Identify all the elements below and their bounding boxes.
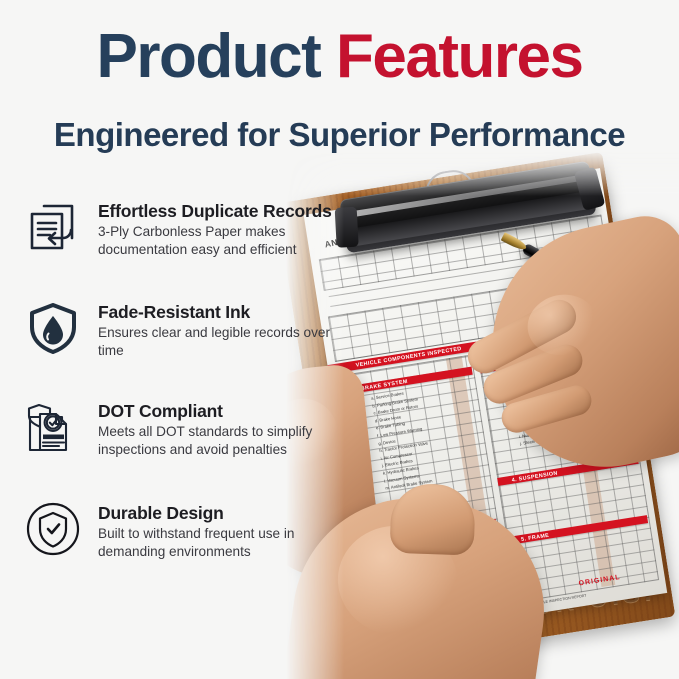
- feature-description: Built to withstand frequent use in deman…: [98, 525, 350, 560]
- feature-title: Fade-Resistant Ink: [98, 302, 350, 322]
- feature-item-duplicate-records: Effortless Duplicate Records 3-Ply Carbo…: [22, 196, 352, 258]
- knuckle-highlight: [522, 288, 603, 361]
- feature-text: Durable Design Built to withstand freque…: [98, 498, 350, 560]
- page-title-part-2: Features: [336, 22, 582, 91]
- feature-item-durable-design: Durable Design Built to withstand freque…: [22, 498, 352, 560]
- page-subtitle: Engineered for Superior Performance: [0, 116, 679, 154]
- page-title: Product Features: [0, 26, 679, 88]
- feature-text: DOT Compliant Meets all DOT standards to…: [98, 396, 350, 458]
- feature-description: Ensures clear and legible records over t…: [98, 324, 350, 359]
- duplicate-documents-icon: [22, 196, 84, 258]
- feature-text: Effortless Duplicate Records 3-Ply Carbo…: [98, 196, 350, 258]
- circle-shield-check-icon: [22, 498, 84, 560]
- feature-item-dot-compliant: DOT Compliant Meets all DOT standards to…: [22, 396, 352, 458]
- shield-ink-drop-icon: [22, 297, 84, 359]
- feature-item-fade-resistant-ink: Fade-Resistant Ink Ensures clear and leg…: [22, 297, 352, 359]
- feature-text: Fade-Resistant Ink Ensures clear and leg…: [98, 297, 350, 359]
- feature-description: 3-Ply Carbonless Paper makes documentati…: [98, 223, 350, 258]
- feature-title: DOT Compliant: [98, 401, 350, 421]
- page-title-part-1: Product: [97, 22, 321, 91]
- feature-description: Meets all DOT standards to simplify insp…: [98, 423, 350, 458]
- feature-title: Durable Design: [98, 503, 350, 523]
- product-features-infographic: BUCK U.S. ANNUAL VEHICLE INSPECTION REPO…: [0, 0, 679, 679]
- document-check-shield-icon: [22, 396, 84, 458]
- feature-title: Effortless Duplicate Records: [98, 201, 350, 221]
